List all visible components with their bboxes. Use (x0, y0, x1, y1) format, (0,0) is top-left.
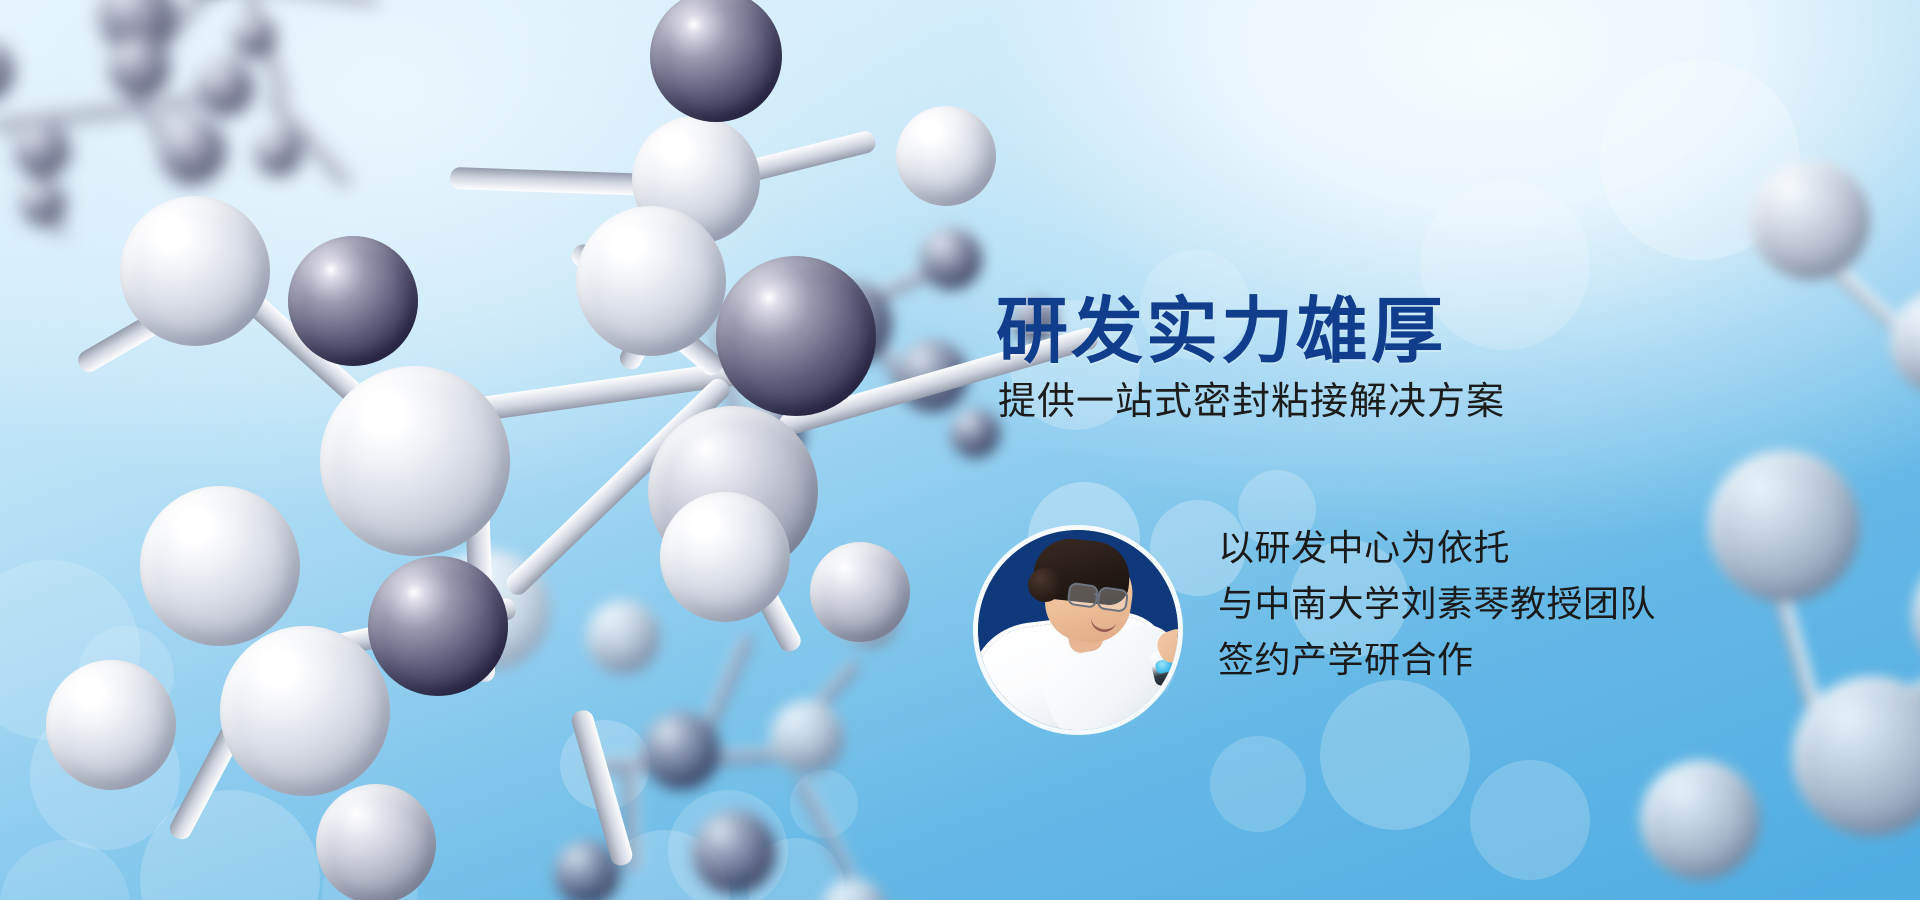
molecule-atom (650, 0, 782, 122)
page-title: 研发实力雄厚 (996, 296, 1756, 369)
background-molecule (1740, 120, 1920, 400)
molecule-atom (368, 556, 508, 696)
foreground-molecule (20, 0, 980, 900)
hero-detail-block: 以研发中心为依托 与中南大学刘素琴教授团队 签约产学研合作 (978, 520, 1878, 740)
molecule-atom (716, 256, 876, 416)
molecule-atom (120, 196, 270, 346)
list-item: 与中南大学刘素琴教授团队 (1218, 576, 1656, 632)
molecule-atom (810, 542, 910, 642)
molecule-atom (288, 236, 418, 366)
hero-text-block: 研发实力雄厚 提供一站式密封粘接解决方案 (996, 296, 1756, 425)
avatar (978, 530, 1178, 730)
molecule-atom (220, 626, 390, 796)
researcher-photo (978, 530, 1178, 730)
molecule-atom (316, 784, 436, 900)
page-subtitle: 提供一站式密封粘接解决方案 (998, 381, 1756, 425)
bokeh-circle (1600, 60, 1800, 260)
molecular-bond (569, 708, 634, 868)
molecule-atom (320, 366, 510, 556)
bokeh-circle (1210, 736, 1306, 832)
molecule-atom (896, 106, 996, 206)
hero-banner: 研发实力雄厚 提供一站式密封粘接解决方案 以研发中心为依托 与中南大学刘素琴教授 (0, 0, 1920, 900)
molecule-atom (140, 486, 300, 646)
hair-bun (1028, 568, 1062, 602)
list-item: 以研发中心为依托 (1218, 520, 1656, 576)
molecule-atom (46, 660, 176, 790)
list-item: 签约产学研合作 (1218, 632, 1656, 688)
molecule-atom (660, 492, 790, 622)
highlight-list: 以研发中心为依托 与中南大学刘素琴教授团队 签约产学研合作 (1218, 520, 1656, 688)
molecule-atom (576, 206, 726, 356)
bokeh-circle (1470, 760, 1590, 880)
